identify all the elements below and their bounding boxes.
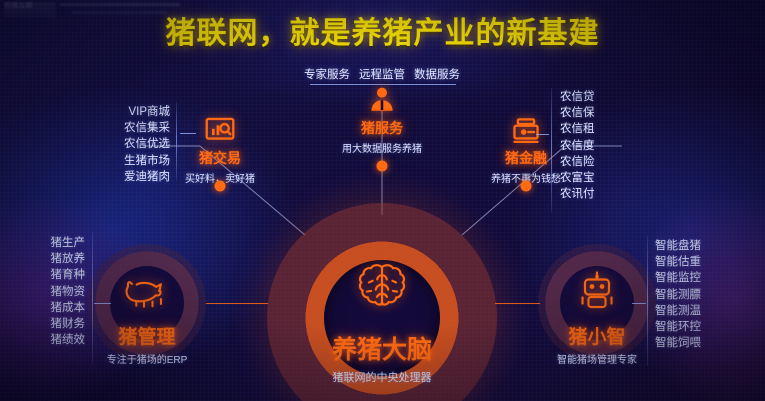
infographic-canvas: 农信互联 猪联网，就是养猪产业的新基建 专家服务 远程监管 数据服务 猪服务 用… [0, 0, 765, 401]
list-item[interactable]: 农信租 [560, 121, 740, 137]
robot-icon [577, 271, 617, 316]
list-item[interactable]: 农富宝 [560, 170, 740, 186]
robot-center-link [495, 303, 540, 304]
node-finance-dot[interactable] [521, 181, 532, 192]
node-center-subtitle: 猪联网的中央处理器 [252, 369, 512, 385]
node-center[interactable]: 养猪大脑 猪联网的中央处理器 [252, 330, 512, 385]
brain-icon [355, 262, 409, 317]
list-item[interactable]: 智能估重 [655, 254, 765, 270]
finance-list-divider [551, 88, 552, 212]
list-item[interactable]: 智能环控 [655, 319, 765, 335]
list-item[interactable]: 生猪市场 [0, 153, 170, 169]
management-list-connector [94, 303, 111, 304]
finance-item-list: 农信贷 农信保 农信租 农信度 农信险 农富宝 农讯付 [560, 89, 740, 202]
list-item[interactable]: 农信度 [560, 138, 740, 154]
management-item-list: 猪生产 猪放养 猪育种 猪物资 猪成本 猪财务 猪绩效 [0, 235, 85, 348]
management-list-divider [92, 232, 93, 364]
list-item[interactable]: 农信优选 [0, 136, 170, 152]
node-service-title: 猪服务 [287, 118, 477, 138]
trade-item-list: VIP商城 农信集采 农信优选 生猪市场 爱迪猪肉 [0, 104, 170, 185]
list-item[interactable]: 猪生产 [0, 235, 85, 251]
list-item[interactable]: 农信贷 [560, 89, 740, 105]
list-item[interactable]: 农信保 [560, 105, 740, 121]
management-center-link [206, 303, 268, 304]
watermark-bar-top [60, 3, 180, 6]
top-tag-row: 专家服务 远程监管 数据服务 [304, 66, 460, 82]
top-tag-0: 专家服务 [304, 66, 350, 82]
robot-item-list: 智能盘猪 智能估重 智能监控 智能测膘 智能测温 智能环控 智能饲喂 [655, 238, 765, 351]
node-service-dot[interactable] [377, 161, 388, 172]
list-item[interactable]: 智能饲喂 [655, 335, 765, 351]
list-item[interactable]: 爱迪猪肉 [0, 169, 170, 185]
node-management-subtitle: 专注于猪场的ERP [47, 351, 247, 366]
list-item[interactable]: 智能测膘 [655, 287, 765, 303]
pig-icon [124, 275, 170, 316]
person-service-icon [367, 85, 397, 120]
monitor-chart-search-icon [205, 117, 235, 149]
robot-list-connector [632, 303, 646, 304]
list-item[interactable]: 农讯付 [560, 186, 740, 202]
list-item[interactable]: 猪财务 [0, 316, 85, 332]
list-item[interactable]: 智能测温 [655, 303, 765, 319]
list-item[interactable]: 猪绩效 [0, 332, 85, 348]
top-tag-2: 数据服务 [414, 66, 460, 82]
list-item[interactable]: 猪物资 [0, 284, 85, 300]
list-item[interactable]: 智能监控 [655, 270, 765, 286]
list-item[interactable]: 猪成本 [0, 300, 85, 316]
list-item[interactable]: 智能盘猪 [655, 238, 765, 254]
list-item[interactable]: 农信险 [560, 154, 740, 170]
page-title: 猪联网，就是养猪产业的新基建 [0, 8, 765, 52]
robot-list-divider [647, 236, 648, 366]
trade-list-connector [180, 133, 196, 134]
node-center-title: 养猪大脑 [252, 330, 512, 366]
list-item[interactable]: VIP商城 [0, 104, 170, 120]
top-tag-1: 远程监管 [359, 66, 405, 82]
list-item[interactable]: 农信集采 [0, 120, 170, 136]
node-robot-subtitle: 智能猪场管理专家 [497, 351, 697, 366]
node-trade-dot[interactable] [215, 181, 226, 192]
finance-list-connector [536, 134, 549, 135]
list-item[interactable]: 猪放养 [0, 251, 85, 267]
trade-list-divider [176, 102, 177, 180]
list-item[interactable]: 猪育种 [0, 267, 85, 283]
